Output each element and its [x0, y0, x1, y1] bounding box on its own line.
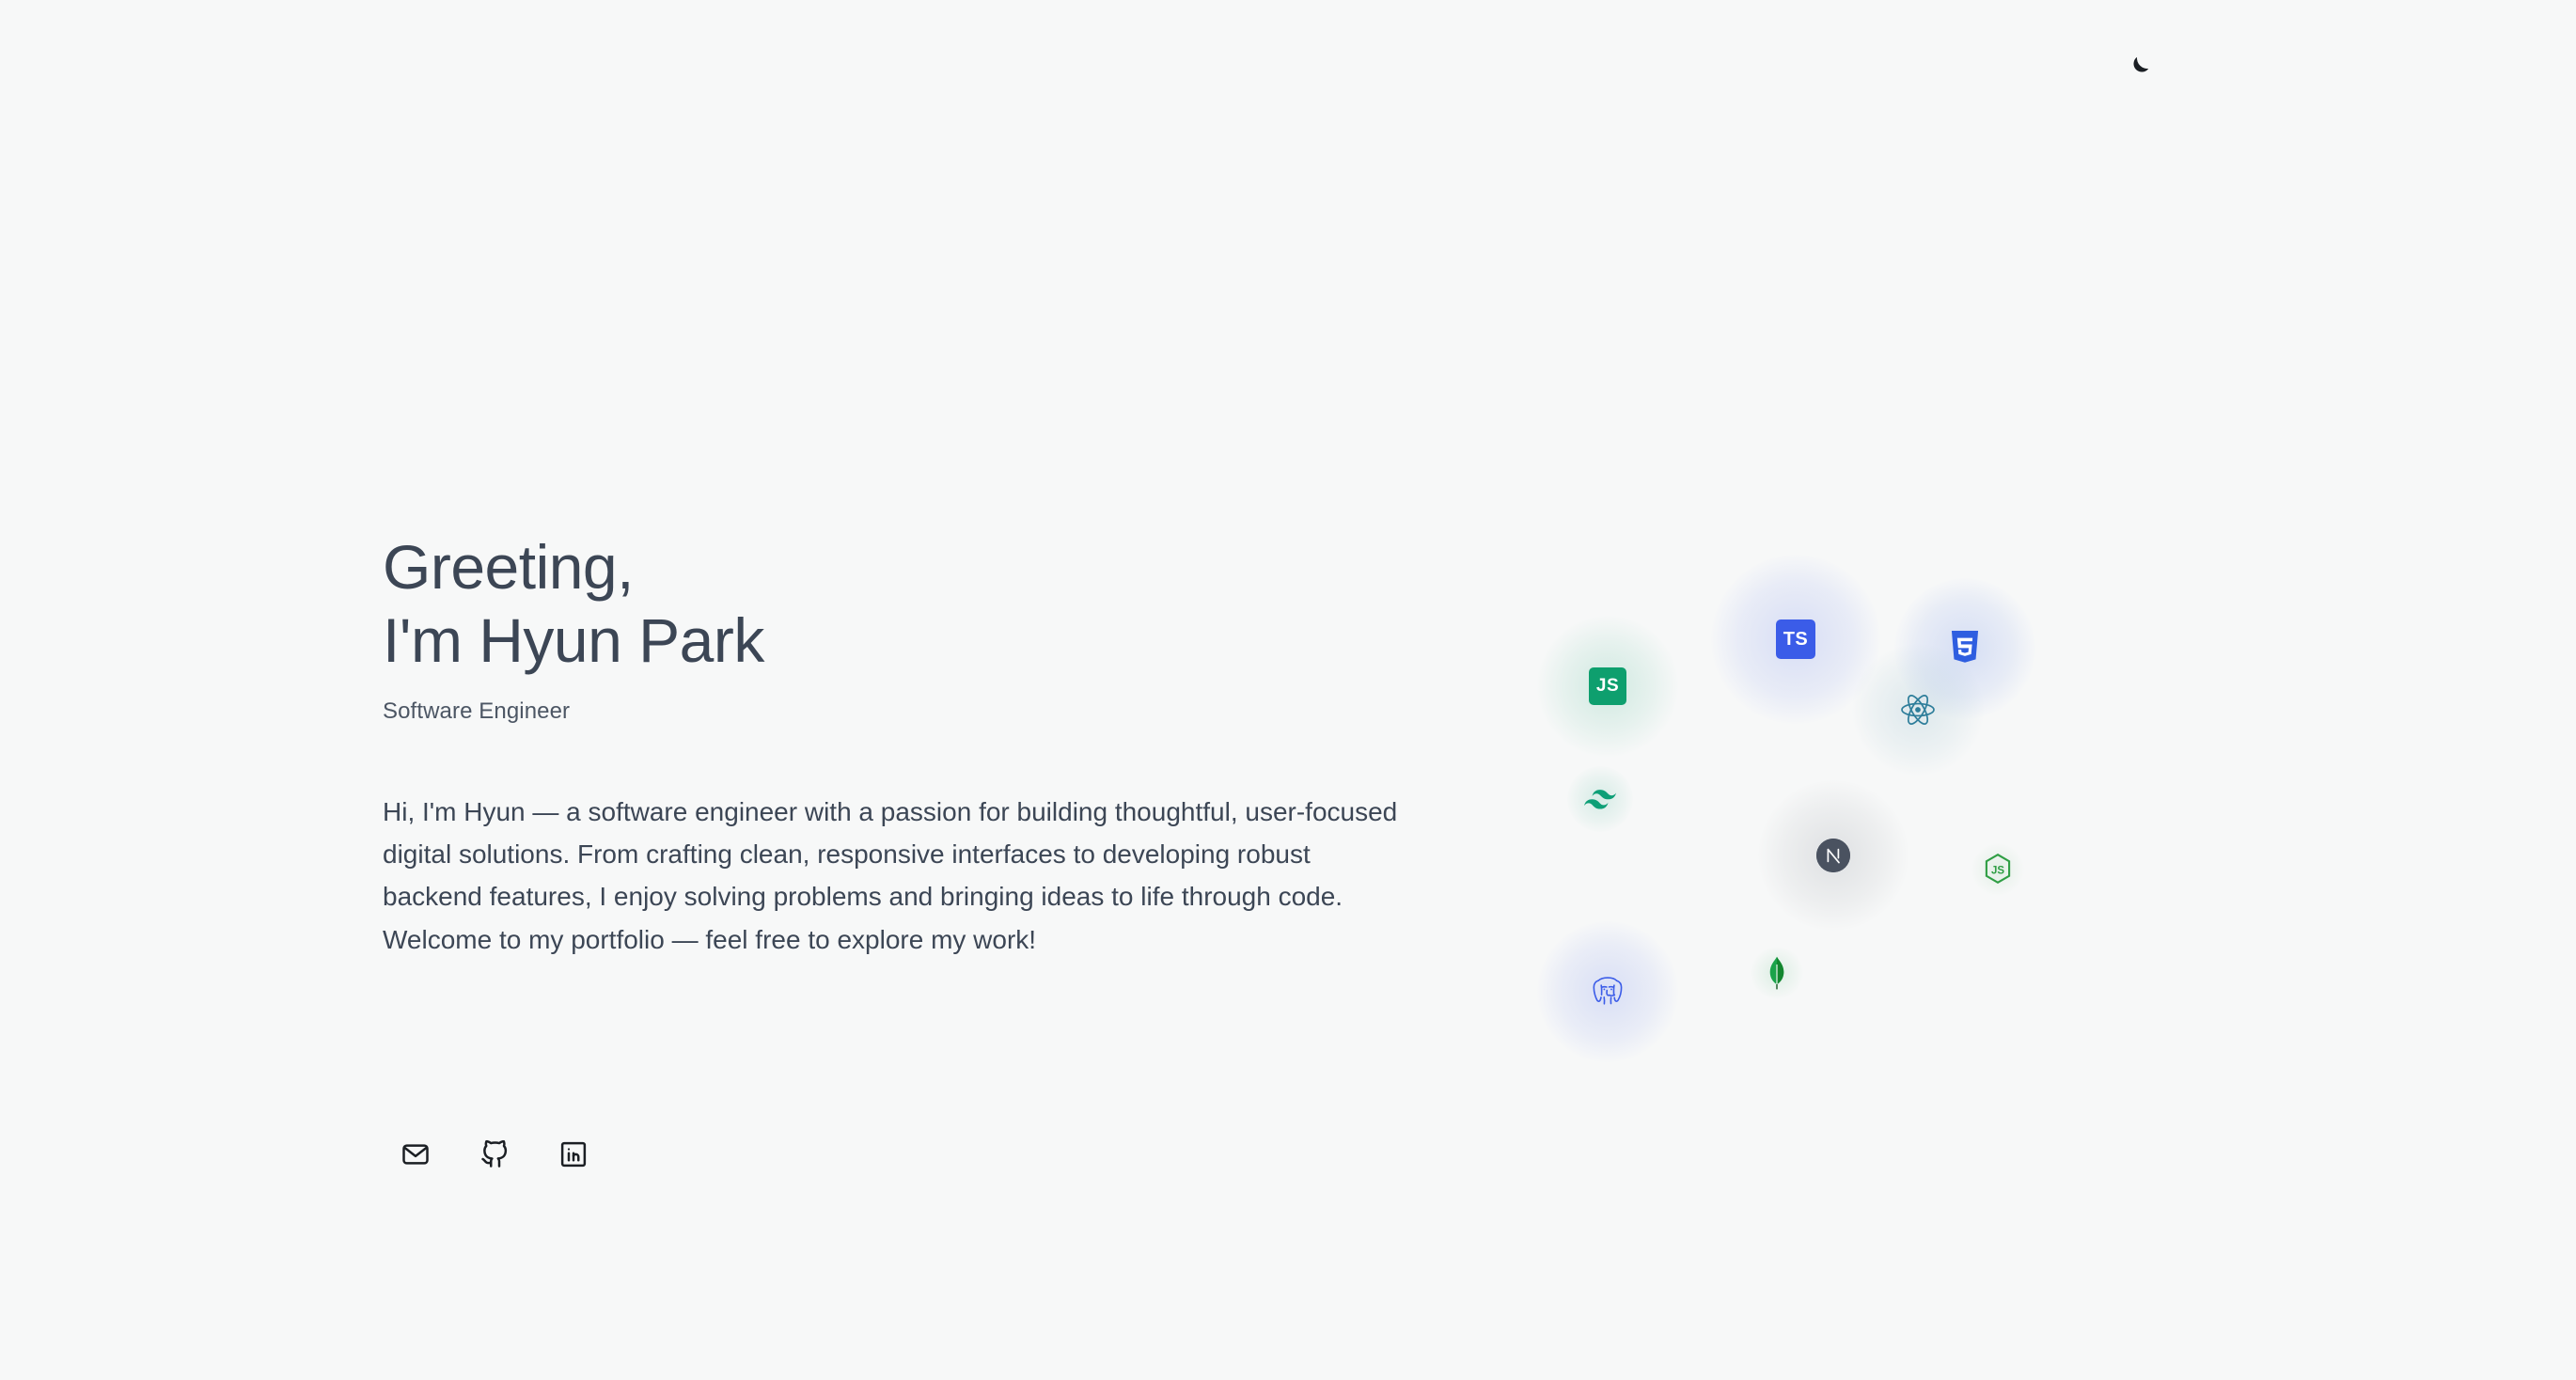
- moon-icon: [2124, 54, 2152, 82]
- nodejs-icon: JS: [1984, 854, 2012, 886]
- typescript-icon: TS: [1776, 619, 1815, 659]
- dark-mode-toggle-button[interactable]: [2113, 43, 2162, 92]
- svg-text:JS: JS: [1991, 866, 2004, 877]
- tech-item-nodejs[interactable]: JS: [1951, 823, 2045, 917]
- tailwind-icon: [1584, 790, 1616, 809]
- bio-paragraph: Hi, I'm Hyun — a software engineer with …: [383, 791, 1407, 961]
- postgresql-icon: [1590, 975, 1626, 1009]
- github-icon: [480, 1140, 509, 1168]
- social-link-github[interactable]: [478, 1137, 511, 1171]
- portfolio-hero-page: Greeting, I'm Hyun Park Software Enginee…: [0, 0, 2576, 1380]
- social-links-row: [399, 1137, 590, 1171]
- mongodb-icon: [1767, 956, 1787, 990]
- mail-icon: [401, 1140, 430, 1168]
- page-title: Greeting, I'm Hyun Park: [383, 531, 1417, 678]
- tech-item-postgresql[interactable]: [1523, 907, 1692, 1076]
- role-subtitle: Software Engineer: [383, 698, 1417, 725]
- tech-stack-cluster: JS TS: [1504, 526, 2162, 1109]
- react-icon: [1900, 694, 1936, 726]
- tech-item-mongodb[interactable]: [1725, 921, 1829, 1025]
- social-link-linkedin[interactable]: [557, 1137, 590, 1171]
- nextjs-icon: [1816, 839, 1850, 872]
- hero-section: Greeting, I'm Hyun Park Software Enginee…: [383, 531, 1417, 961]
- linkedin-icon: [559, 1140, 588, 1168]
- social-link-email[interactable]: [399, 1137, 432, 1171]
- tech-item-nextjs[interactable]: [1744, 766, 1923, 945]
- tech-item-tailwind[interactable]: [1544, 743, 1657, 855]
- javascript-icon: JS: [1589, 667, 1626, 705]
